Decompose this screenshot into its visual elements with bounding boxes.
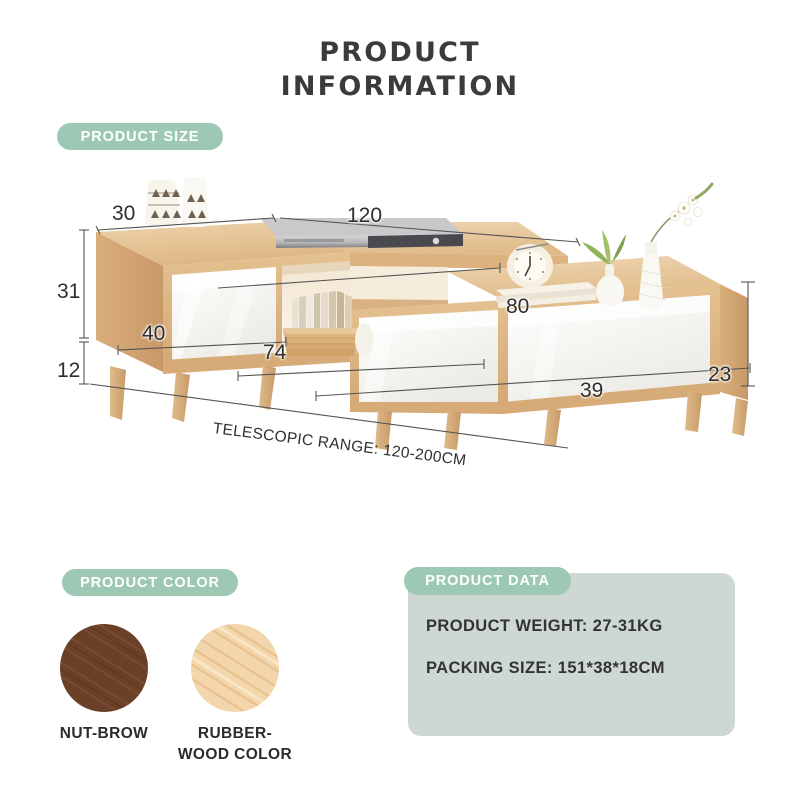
ceramic-vase-small — [182, 177, 208, 227]
wood-grain-icon — [191, 624, 279, 712]
dimension-label-leg-12: 12 — [57, 360, 80, 381]
page-title: PRODUCT INFORMATION — [0, 36, 800, 105]
page-title-line-2: INFORMATION — [0, 70, 800, 104]
dimension-label-depth-30: 30 — [112, 203, 135, 224]
swatch-label-rubber-wood: RUBBER- WOOD COLOR — [165, 724, 305, 766]
dimension-label-right-door-39: 39 — [580, 380, 603, 401]
round-clock — [507, 244, 553, 288]
swatch-circle-rubber-wood[interactable] — [191, 624, 279, 712]
dimension-label-right-depth-23: 23 — [708, 364, 731, 385]
product-information-page: PRODUCT INFORMATION PRODUCT SIZE — [0, 0, 800, 800]
swatch-circle-nut-brown[interactable] — [60, 624, 148, 712]
badge-product-data: PRODUCT DATA — [404, 567, 571, 595]
swatch-label-nut-brown: NUT-BROW — [40, 724, 168, 745]
product-data-panel: PRODUCT WEIGHT: 27-31KG PACKING SIZE: 15… — [408, 573, 735, 736]
product-illustration — [48, 160, 768, 460]
dimension-label-door-40: 40 — [142, 323, 165, 344]
product-weight-row: PRODUCT WEIGHT: 27-31KG — [426, 617, 663, 636]
blossom-branch — [651, 184, 712, 242]
badge-product-color: PRODUCT COLOR — [62, 569, 238, 596]
swatch-label-line-2: WOOD COLOR — [165, 745, 305, 766]
white-round-object — [355, 323, 373, 357]
woven-basket — [283, 328, 358, 356]
ceramic-jar — [145, 180, 181, 226]
dimension-label-right-80: 80 — [506, 296, 529, 317]
dimension-label-height-31: 31 — [57, 281, 80, 302]
color-swatch-rubber-wood[interactable]: RUBBER- WOOD COLOR — [165, 624, 305, 766]
page-title-line-1: PRODUCT — [0, 36, 800, 70]
swatch-label-line-1: RUBBER- — [165, 724, 305, 745]
dimension-label-width-120: 120 — [347, 205, 382, 226]
wood-grain-icon — [60, 624, 148, 712]
badge-product-size: PRODUCT SIZE — [57, 123, 223, 150]
leaf-branch — [582, 230, 626, 264]
dimension-label-shelf-74: 74 — [263, 342, 286, 363]
color-swatch-nut-brown[interactable]: NUT-BROW — [40, 624, 168, 745]
packing-size-row: PACKING SIZE: 151*38*18CM — [426, 659, 665, 678]
